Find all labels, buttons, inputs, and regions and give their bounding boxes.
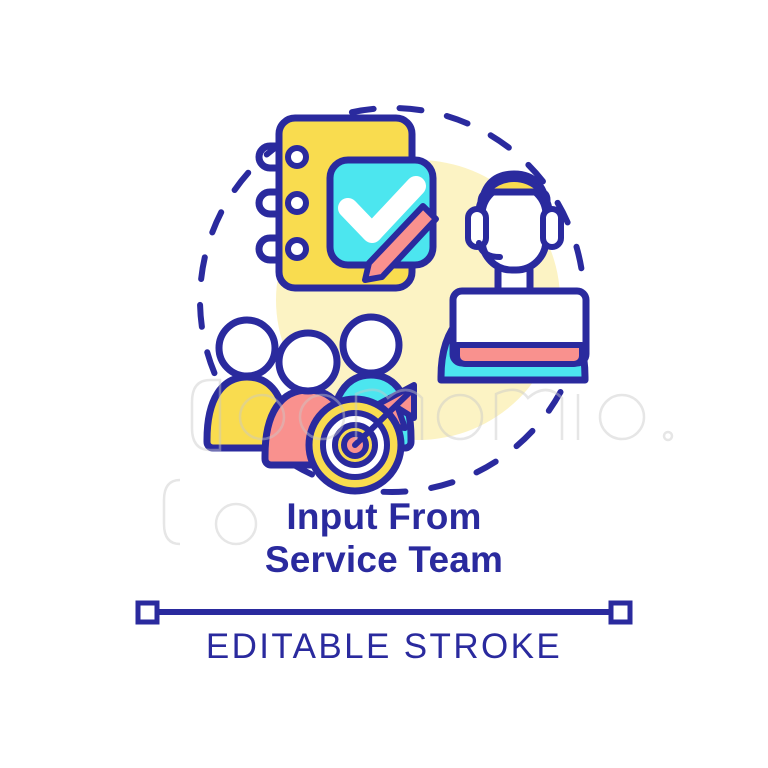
caption: EDITABLE STROKE [0, 627, 768, 667]
laptop [453, 291, 586, 364]
stroke-widget-left-handle [138, 603, 157, 622]
stroke-widget-right-handle [611, 603, 630, 622]
concept-icon-canvas: Input From Service Team EDITABLE STROKE [0, 0, 768, 768]
page-title: Input From Service Team [0, 496, 768, 582]
title-line-1: Input From [0, 496, 768, 539]
notebook [259, 118, 436, 288]
caption-text: EDITABLE STROKE [0, 627, 768, 667]
stroke-widget [138, 603, 630, 622]
title-line-2: Service Team [0, 539, 768, 582]
